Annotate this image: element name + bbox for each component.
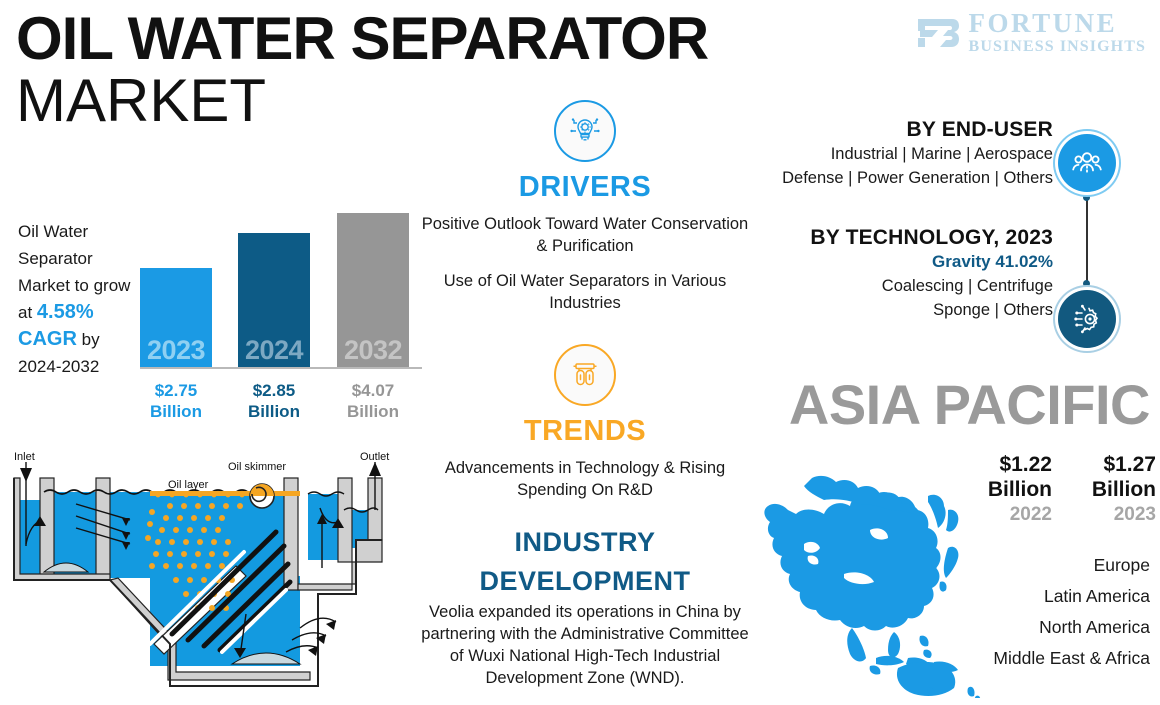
asia-pacific-figure-2023: $1.27 Billion 2023	[1064, 452, 1156, 528]
center-column: DRIVERS Positive Outlook Toward Water Co…	[420, 100, 750, 689]
trends-point-1: Advancements in Technology & Rising Spen…	[420, 457, 750, 501]
bar-value-2032: $4.07 Billion	[337, 380, 409, 422]
bar-value-unit-2024: Billion	[238, 401, 310, 422]
drivers-section: DRIVERS Positive Outlook Toward Water Co…	[420, 100, 750, 314]
badge-connector-dot-bottom	[1083, 280, 1090, 287]
diagram-label-oil-layer: Oil layer	[168, 479, 209, 491]
diagram-label-inlet: Inlet	[14, 451, 35, 463]
title-line-1: OIL WATER SEPARATOR	[16, 8, 708, 70]
people-group-icon	[1058, 134, 1116, 192]
drivers-point-1: Positive Outlook Toward Water Conservati…	[420, 213, 750, 257]
brand-logo: FORTUNE BUSINESS INSIGHTS	[916, 10, 1146, 55]
region-item-north-america: North America	[900, 612, 1150, 643]
bar-value-amount-2023: $2.75	[140, 380, 212, 401]
cagr-statement: Oil Water Separator Market to grow at 4.…	[18, 218, 140, 380]
asia-pacific-figures: $1.22 Billion 2022 $1.27 Billion 2023	[960, 452, 1156, 528]
bar-value-2024: $2.85 Billion	[238, 380, 310, 422]
industry-development-heading-1: INDUSTRY	[420, 527, 750, 557]
bar-value-amount-2024: $2.85	[238, 380, 310, 401]
diagram-label-oil-skimmer: Oil skimmer	[228, 461, 286, 473]
bar-year-label-2023: 2023	[140, 335, 212, 366]
ap-year-2022: 2022	[960, 502, 1052, 528]
fb-logo-icon	[916, 13, 960, 53]
bar-value-unit-2023: Billion	[140, 401, 212, 422]
diagram-label-outlet: Outlet	[360, 451, 389, 463]
region-item-europe: Europe	[900, 550, 1150, 581]
badge-connector-line	[1086, 198, 1088, 284]
lightbulb-gear-icon	[554, 100, 616, 162]
cagr-by: by	[77, 330, 100, 349]
industry-development-heading-2: DEVELOPMENT	[420, 566, 750, 596]
bar-2024: 2024	[238, 233, 310, 368]
drivers-heading: DRIVERS	[420, 171, 750, 204]
bar-year-label-2024: 2024	[238, 335, 310, 366]
region-item-middle-east-africa: Middle East & Africa	[900, 643, 1150, 674]
region-item-latin-america: Latin America	[900, 581, 1150, 612]
logo-secondary-text: BUSINESS INSIGHTS	[969, 39, 1146, 55]
gear-circuit-icon	[1058, 290, 1116, 348]
oil-water-separator-diagram: Inlet Oil layer Oil skimmer Outlet	[0, 448, 412, 700]
chart-bars: 2023 2024 2032	[140, 213, 422, 368]
bar-2032: 2032	[337, 213, 409, 368]
region-list: Europe Latin America North America Middl…	[900, 550, 1150, 674]
water-filter-icon	[554, 344, 616, 406]
bar-value-amount-2032: $4.07	[337, 380, 409, 401]
cagr-rate: 4.58%	[37, 301, 94, 323]
ap-unit-2022: Billion	[960, 477, 1052, 502]
separator-cross-section-icon: Inlet Oil layer Oil skimmer Outlet	[0, 448, 412, 700]
industry-development-body: Veolia expanded its operations in China …	[420, 601, 750, 689]
chart-axis-line	[140, 367, 422, 369]
asia-pacific-title: ASIA PACIFIC	[755, 372, 1150, 437]
drivers-point-2: Use of Oil Water Separators in Various I…	[420, 270, 750, 314]
ap-value-2022: $1.22	[960, 452, 1052, 477]
cagr-metric: CAGR	[18, 328, 77, 350]
bar-year-label-2032: 2032	[337, 335, 409, 366]
industry-development-section: INDUSTRY DEVELOPMENT Veolia expanded its…	[420, 527, 750, 689]
bar-2023: 2023	[140, 268, 212, 368]
right-column: BY END-USER Industrial | Marine | Aerosp…	[755, 118, 1145, 322]
ap-value-2023: $1.27	[1064, 452, 1156, 477]
badge-connector-dot-top	[1083, 194, 1090, 201]
bar-value-unit-2032: Billion	[337, 401, 409, 422]
bar-value-2023: $2.75 Billion	[140, 380, 212, 422]
ap-unit-2023: Billion	[1064, 477, 1156, 502]
trends-heading: TRENDS	[420, 415, 750, 448]
cagr-period: 2024-2032	[18, 357, 99, 376]
market-bar-chart: 2023 2024 2032 $2.75 Billion $2.85 B	[140, 205, 422, 430]
logo-primary-text: FORTUNE	[969, 10, 1146, 37]
asia-pacific-figure-2022: $1.22 Billion 2022	[960, 452, 1052, 528]
infographic-page: OIL WATER SEPARATOR MARKET FORTUNE BUSIN…	[0, 0, 1160, 700]
ap-year-2023: 2023	[1064, 502, 1156, 528]
trends-section: TRENDS Advancements in Technology & Risi…	[420, 344, 750, 501]
